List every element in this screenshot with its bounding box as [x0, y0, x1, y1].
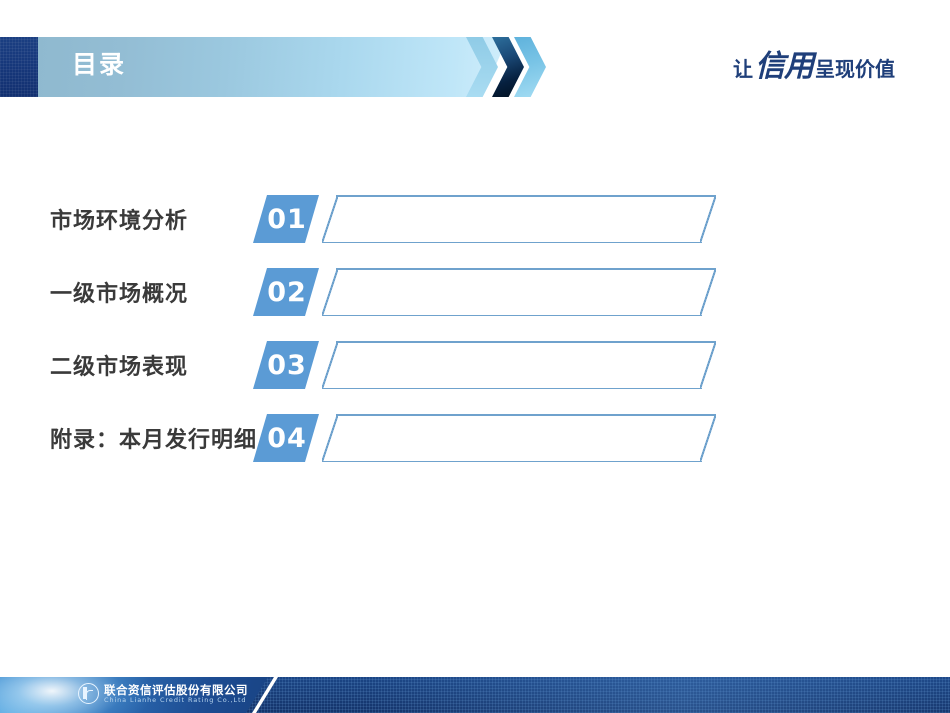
slide-footer: 联合资信评估股份有限公司 China Lianhe Credit Rating … [0, 671, 950, 713]
frame-left-edge [322, 414, 338, 462]
frame-left-edge [322, 268, 338, 316]
company-name-cn: 联合资信评估股份有限公司 [104, 684, 248, 696]
toc-item-text: 附录：本月发行明细 [50, 414, 257, 462]
frame-bottom-edge [322, 388, 702, 390]
toc-label-frame [322, 414, 716, 462]
toc-number-label: 03 [253, 341, 319, 389]
frame-top-edge [336, 341, 716, 343]
header-corner-block [0, 37, 38, 97]
frame-bottom-edge [322, 315, 702, 317]
toc-label-frame [322, 268, 716, 316]
toc-item-text: 二级市场表现 [50, 341, 188, 389]
lianhe-logo-icon [78, 683, 99, 704]
toc-number-label: 02 [253, 268, 319, 316]
tagline-highlight: 信用 [753, 49, 815, 84]
tagline-suffix: 呈现价值 [815, 57, 895, 81]
toc-item-text: 市场环境分析 [50, 195, 188, 243]
toc-item-02[interactable]: 02 一级市场概况 [0, 268, 950, 316]
toc-item-03[interactable]: 03 二级市场表现 [0, 341, 950, 389]
toc-label-frame [322, 195, 716, 243]
frame-top-edge [336, 414, 716, 416]
frame-right-edge [700, 414, 716, 462]
toc-list: 01 市场环境分析 02 一级市场概况 03 二级市场表现 [0, 195, 950, 487]
frame-left-edge [322, 195, 338, 243]
toc-number-label: 01 [253, 195, 319, 243]
company-name-en: China Lianhe Credit Rating Co.,Ltd [104, 697, 248, 704]
toc-label-frame [322, 341, 716, 389]
frame-left-edge [322, 341, 338, 389]
company-logo: 联合资信评估股份有限公司 China Lianhe Credit Rating … [78, 683, 248, 704]
toc-number-label: 04 [253, 414, 319, 462]
frame-right-edge [700, 341, 716, 389]
toc-item-01[interactable]: 01 市场环境分析 [0, 195, 950, 243]
frame-bottom-edge [322, 242, 702, 244]
company-name-block: 联合资信评估股份有限公司 China Lianhe Credit Rating … [104, 684, 248, 704]
brand-tagline: 让信用呈现价值 [733, 52, 895, 82]
frame-right-edge [700, 195, 716, 243]
frame-top-edge [336, 268, 716, 270]
frame-right-edge [700, 268, 716, 316]
toc-item-04[interactable]: 04 附录：本月发行明细 [0, 414, 950, 462]
page-title: 目录 [72, 52, 126, 77]
frame-bottom-edge [322, 461, 702, 463]
frame-top-edge [336, 195, 716, 197]
toc-item-text: 一级市场概况 [50, 268, 188, 316]
tagline-prefix: 让 [733, 57, 753, 81]
